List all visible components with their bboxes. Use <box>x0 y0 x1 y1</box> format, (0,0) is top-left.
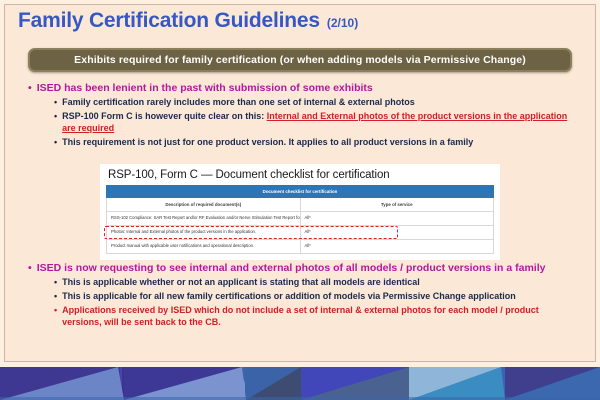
bullet-level2: • RSP-100 Form C is however quite clear … <box>54 111 580 135</box>
bullet-level2-text: Family certification rarely includes mor… <box>62 97 415 109</box>
embedded-document-panel: RSP-100, Form C — Document checklist for… <box>100 164 500 260</box>
cell-description: Photos: Internal and External photos of … <box>107 226 301 240</box>
bullet-level2: • This requirement is not just for one p… <box>54 137 580 149</box>
bullet-glyph-icon: • <box>28 262 32 275</box>
page-title: Family Certification Guidelines (2/10) <box>18 10 358 31</box>
bullet-glyph-icon: • <box>54 137 57 149</box>
table-row: Product manual with applicable user noti… <box>107 240 494 254</box>
footer-decorative-band <box>0 367 600 400</box>
bullet-level2: • This is applicable whether or not an a… <box>54 277 580 289</box>
checklist-table: Document checklist for certification Des… <box>106 185 494 254</box>
bullet-glyph-icon: • <box>54 291 57 303</box>
table-row: RSS-102 Compliance: SAR Test Report and/… <box>107 212 494 226</box>
table-band-label: Document checklist for certification <box>107 186 494 198</box>
page-title-text: Family Certification Guidelines <box>18 10 320 31</box>
bullet-level1-text: ISED is now requesting to see internal a… <box>37 262 546 275</box>
upper-bullet-list: • ISED has been lenient in the past with… <box>28 82 580 151</box>
bullet-level2-text: Applications received by ISED which do n… <box>62 305 580 329</box>
cell-service: All* <box>300 212 494 226</box>
document-title: RSP-100, Form C — Document checklist for… <box>108 169 494 181</box>
bullet-level2-text: RSP-100 Form C is however quite clear on… <box>62 111 580 135</box>
page-counter: (2/10) <box>327 17 358 29</box>
bullet-glyph-icon: • <box>54 305 57 329</box>
bullet-level2: • Applications received by ISED which do… <box>54 305 580 329</box>
column-header-service: Type of service <box>300 198 494 212</box>
bullet-level2-lead: RSP-100 Form C is however quite clear on… <box>62 111 267 121</box>
bullet-level2: • This is applicable for all new family … <box>54 291 580 303</box>
bullet-level2-text: This is applicable whether or not an app… <box>62 277 420 289</box>
bullet-level2: • Family certification rarely includes m… <box>54 97 580 109</box>
table-header-row: Description of required document(s) Type… <box>107 198 494 212</box>
slide: Family Certification Guidelines (2/10) E… <box>0 0 600 400</box>
bullet-level2-text: This is applicable for all new family ce… <box>62 291 516 303</box>
bullet-level2-text: This requirement is not just for one pro… <box>62 137 473 149</box>
cell-description: Product manual with applicable user noti… <box>107 240 301 254</box>
column-header-description: Description of required document(s) <box>107 198 301 212</box>
cell-description: RSS-102 Compliance: SAR Test Report and/… <box>107 212 301 226</box>
lower-bullet-list: • ISED is now requesting to see internal… <box>28 262 580 331</box>
section-banner-text: Exhibits required for family certificati… <box>74 54 526 66</box>
cell-service: All* <box>300 240 494 254</box>
bullet-glyph-icon: • <box>54 97 57 109</box>
cell-service: All* <box>300 226 494 240</box>
section-banner: Exhibits required for family certificati… <box>28 48 572 72</box>
table-band-row: Document checklist for certification <box>107 186 494 198</box>
bullet-glyph-icon: • <box>54 111 57 135</box>
bullet-level1: • ISED has been lenient in the past with… <box>28 82 580 95</box>
table-row: Photos: Internal and External photos of … <box>107 226 494 240</box>
bullet-glyph-icon: • <box>28 82 32 95</box>
bullet-level1: • ISED is now requesting to see internal… <box>28 262 580 275</box>
bullet-level1-text: ISED has been lenient in the past with s… <box>37 82 373 95</box>
bullet-glyph-icon: • <box>54 277 57 289</box>
footer-pattern-icon <box>0 367 600 400</box>
